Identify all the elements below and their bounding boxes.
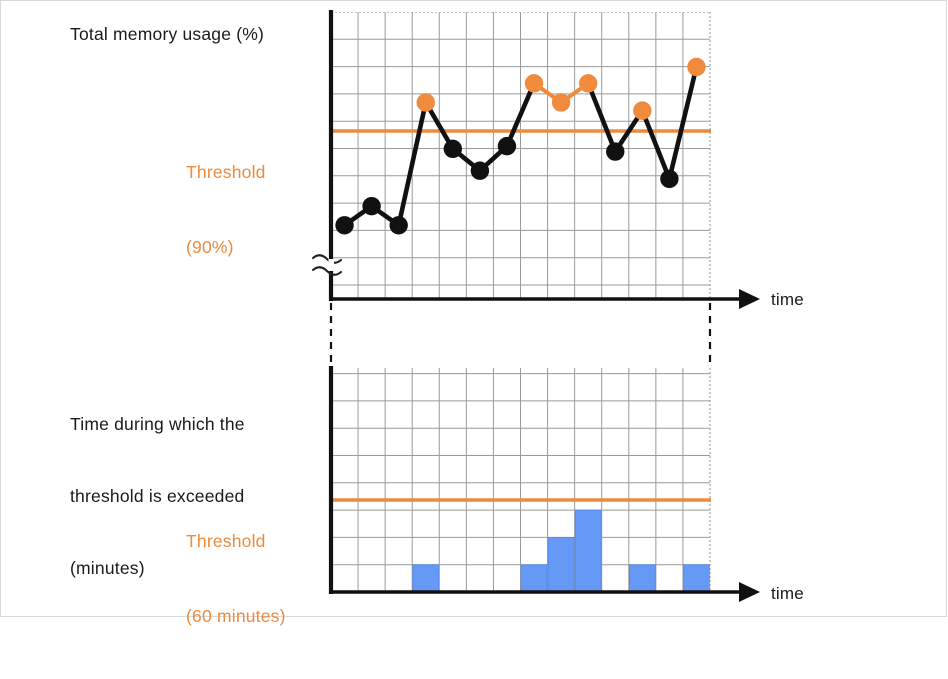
bottom-threshold-label-line2: (60 minutes) [186,604,286,629]
data-point-normal [660,170,678,188]
data-point-exceeding [417,93,435,111]
diagram-root: Total memory usage (%) Threshold (90%) t… [0,0,948,618]
top-x-axis-arrowhead [739,289,760,309]
bottom-panel-x-axis-label: time [771,584,804,604]
data-point-exceeding [525,74,543,92]
data-point-normal [606,142,624,160]
bottom-chart-group [331,368,711,593]
data-point-exceeding [579,74,597,92]
bar [548,537,574,592]
bottom-x-axis-arrowhead [739,582,760,602]
bar [684,565,710,592]
top-panel-y-axis-label: Total memory usage (%) [70,22,264,46]
memory-usage-chart-svg [331,12,711,300]
threshold-exceeded-chart-svg [331,368,711,593]
top-chart-group [331,12,711,300]
memory-usage-chart [331,12,711,300]
bottom-y-label-line1: Time during which the [70,412,245,436]
bottom-panel-threshold-label: Threshold (60 minutes) [186,479,286,679]
bar [521,565,547,592]
data-point-normal [362,197,380,215]
top-panel-x-axis-label: time [771,290,804,310]
data-point-normal [498,137,516,155]
bar [575,510,601,592]
top-panel-threshold-label: Threshold (90%) [186,110,266,310]
bar [413,565,439,592]
bottom-threshold-label-line1: Threshold [186,529,286,554]
data-point-normal [444,140,462,158]
bar [629,565,655,592]
data-point-normal [335,216,353,234]
data-point-exceeding [687,58,705,76]
data-point-exceeding [552,93,570,111]
data-point-normal [389,216,407,234]
threshold-exceeded-chart [331,368,711,593]
data-point-normal [471,161,489,179]
top-threshold-label-line2: (90%) [186,235,266,260]
top-threshold-label-line1: Threshold [186,160,266,185]
data-point-exceeding [633,101,651,119]
